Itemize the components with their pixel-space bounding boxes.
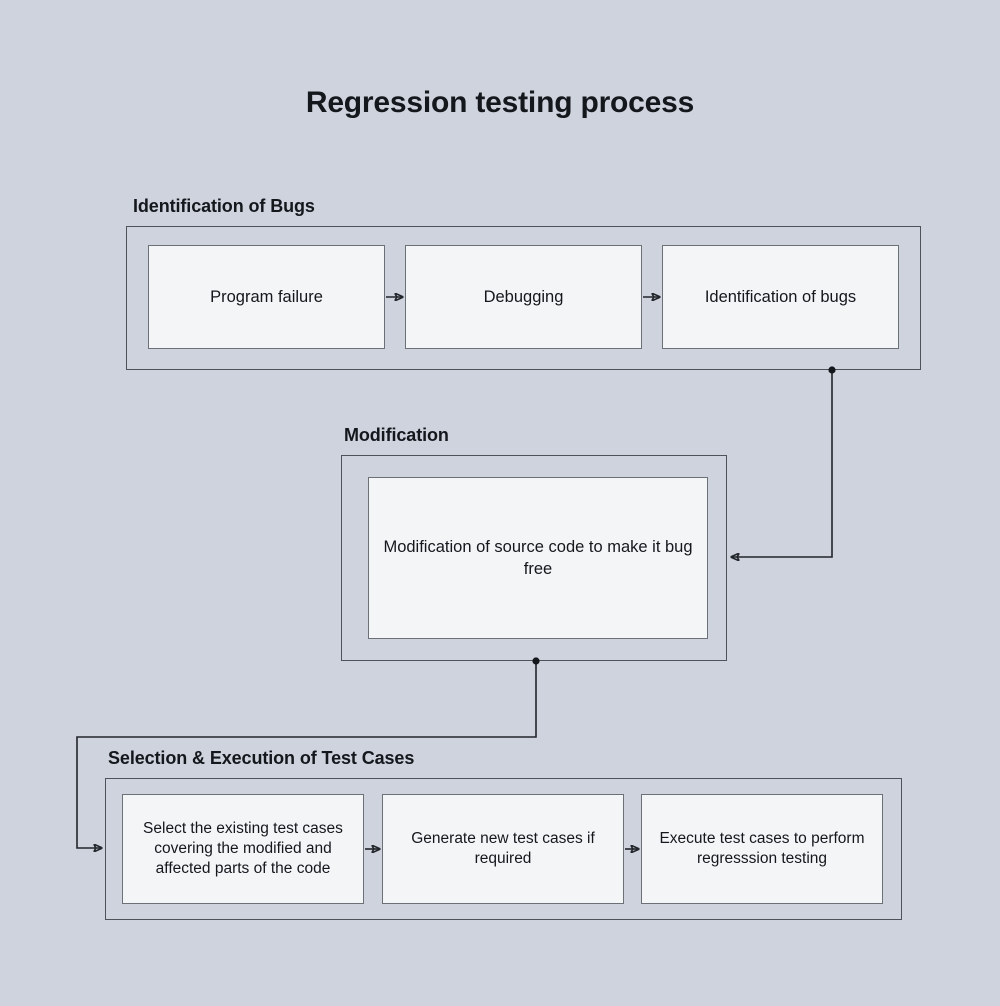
connector-identification-group-to-modification-group: [731, 370, 832, 557]
node-select-existing-test-cases[interactable]: Select the existing test cases covering …: [122, 794, 364, 904]
group-label-identification-of-bugs: Identification of Bugs: [133, 196, 315, 217]
diagram-canvas: Regression testing process Identificatio…: [0, 0, 1000, 1006]
node-execute-test-cases[interactable]: Execute test cases to perform regresssio…: [641, 794, 883, 904]
node-modification-of-source-code[interactable]: Modification of source code to make it b…: [368, 477, 708, 639]
page-title: Regression testing process: [0, 86, 1000, 120]
node-debugging[interactable]: Debugging: [405, 245, 642, 349]
node-identification-of-bugs[interactable]: Identification of bugs: [662, 245, 899, 349]
group-label-modification: Modification: [344, 425, 449, 446]
group-label-selection-execution-of-test-cases: Selection & Execution of Test Cases: [108, 748, 414, 769]
node-generate-new-test-cases[interactable]: Generate new test cases if required: [382, 794, 624, 904]
node-program-failure[interactable]: Program failure: [148, 245, 385, 349]
